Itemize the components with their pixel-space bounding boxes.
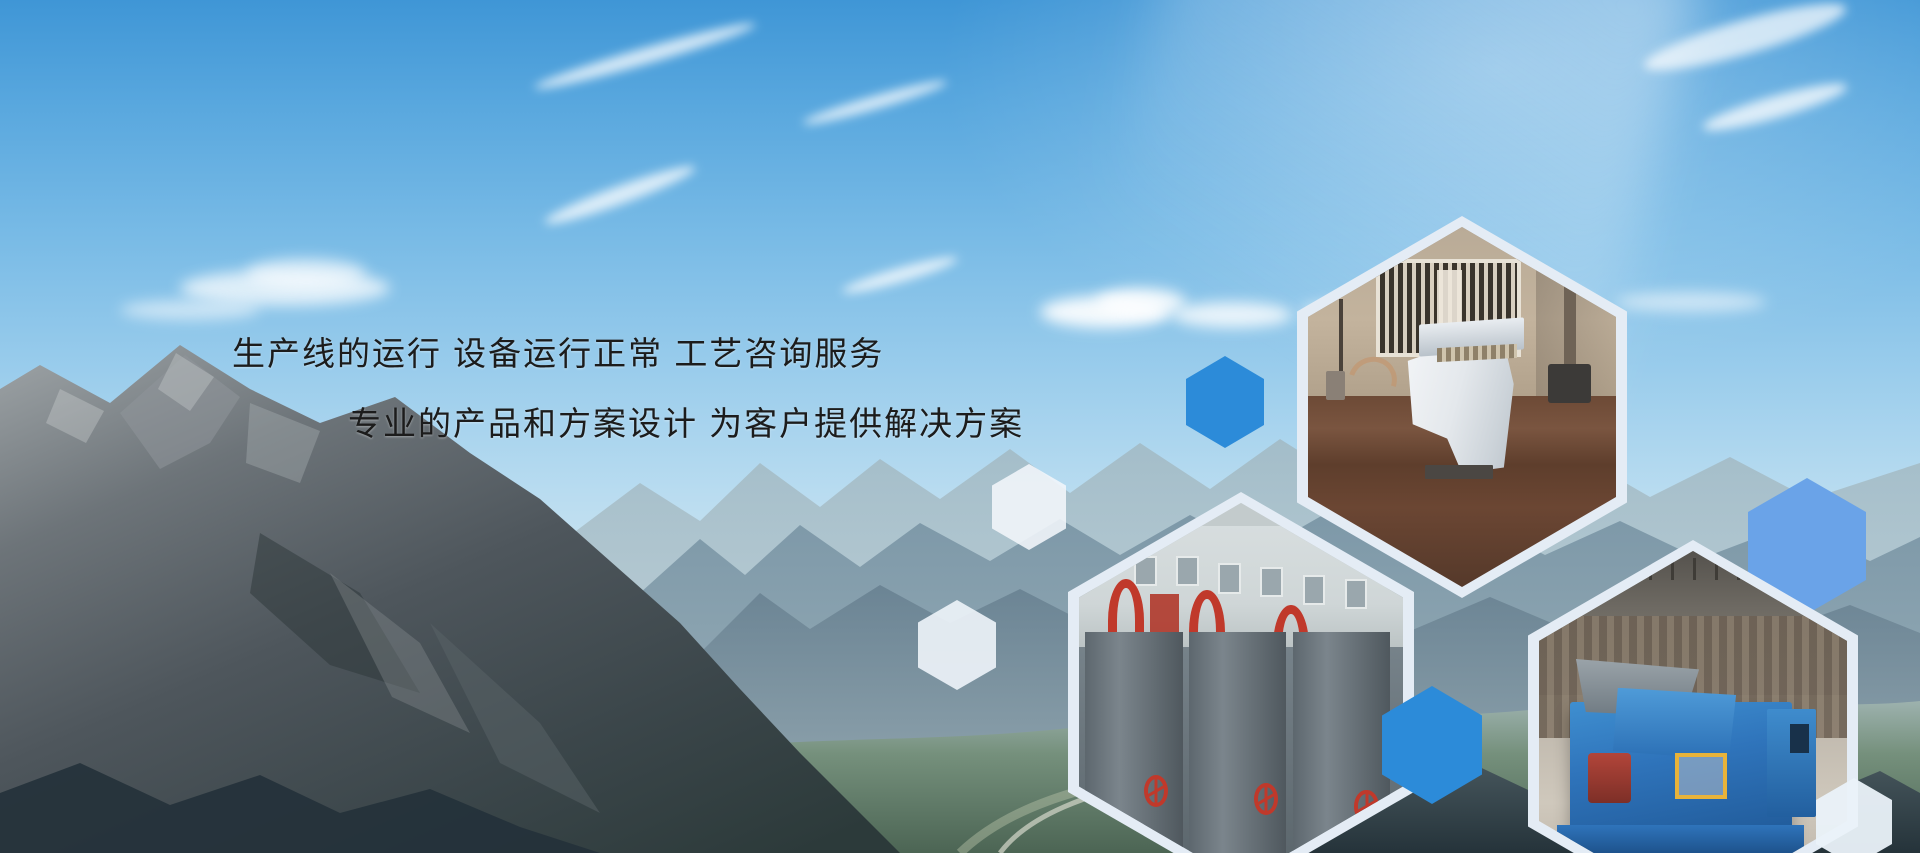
photo-casting-machine <box>1308 227 1616 587</box>
headline-line-2: 专业的产品和方案设计 为客户提供解决方案 <box>0 402 1020 446</box>
hex-photo-top-image <box>1308 227 1616 587</box>
headline-block: 生产线的运行 设备运行正常 工艺咨询服务 专业的产品和方案设计 为客户提供解决方… <box>0 332 1020 446</box>
banner-stage: 生产线的运行 设备运行正常 工艺咨询服务 专业的产品和方案设计 为客户提供解决方… <box>0 0 1920 853</box>
headline-line-1: 生产线的运行 设备运行正常 工艺咨询服务 <box>0 332 1020 376</box>
